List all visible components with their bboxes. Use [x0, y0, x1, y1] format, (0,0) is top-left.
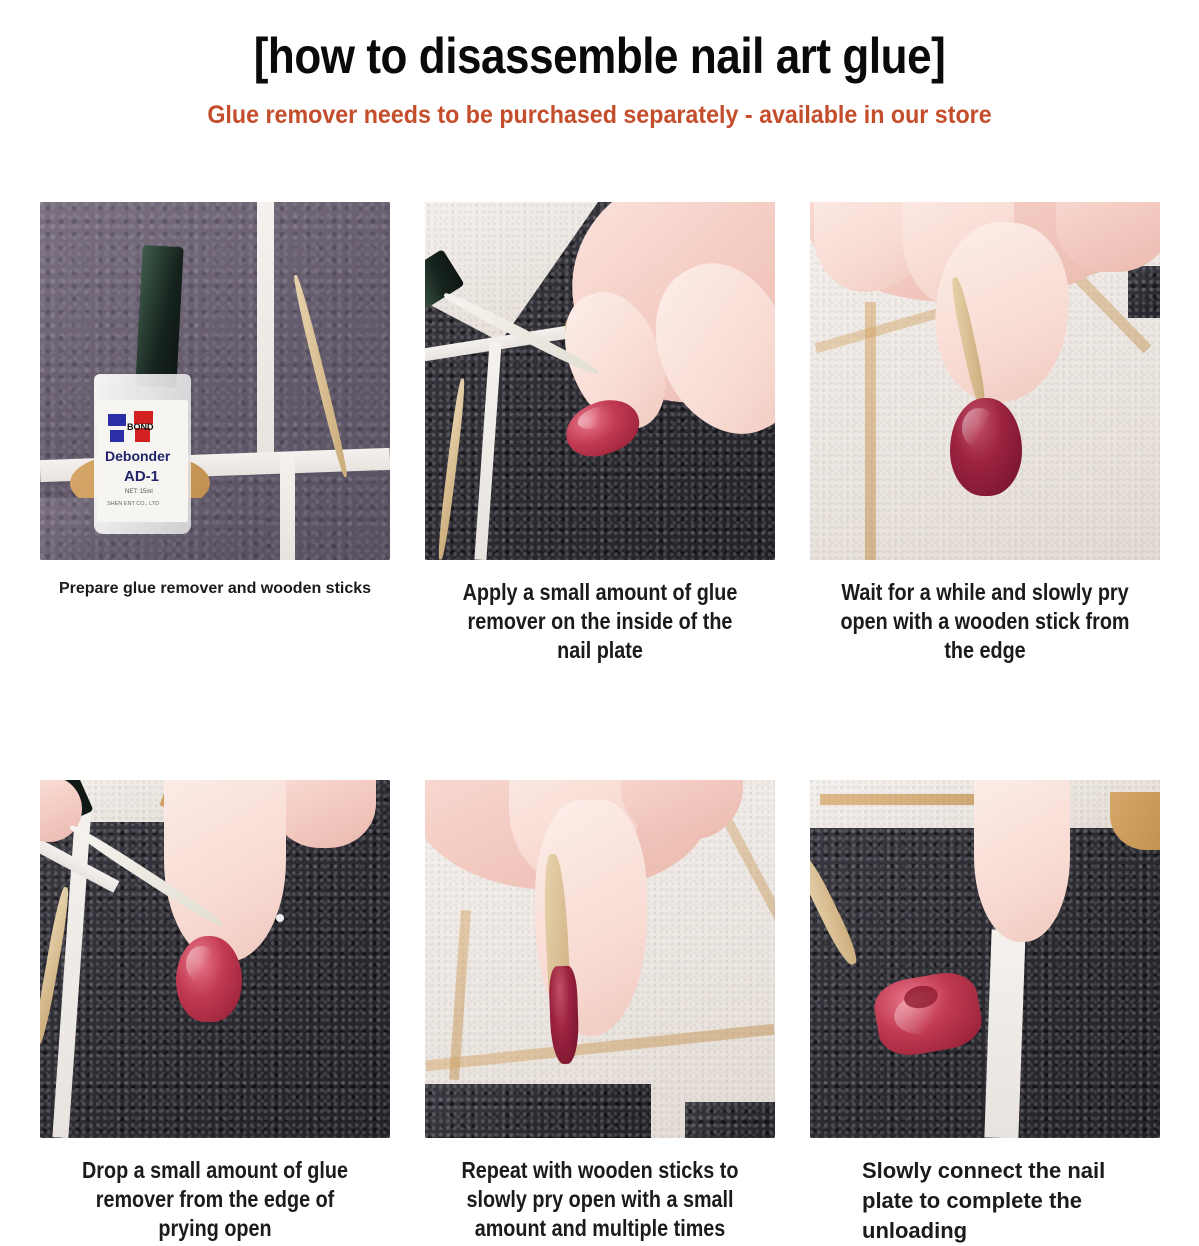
bottle-product-name: Debonder [105, 448, 170, 464]
step-card-4: Drop a small amount of glue remover from… [40, 780, 390, 1246]
step-photo-5 [425, 780, 775, 1138]
background-dark-strip-corner [685, 1102, 775, 1138]
brand-mark-blue [108, 414, 126, 426]
page-subtitle: Glue remover needs to be purchased separ… [42, 100, 1157, 130]
step-caption-3: Wait for a while and slowly pry open wit… [835, 578, 1136, 665]
step-card-2: Apply a small amount of glue remover on … [425, 202, 775, 665]
bottle-model: AD-1 [124, 468, 159, 485]
tile-line-vertical [984, 929, 1025, 1138]
bottle-brand-text: BOND [127, 422, 154, 432]
step-card-6: Slowly connect the nail plate to complet… [810, 780, 1160, 1246]
nail-gloss [962, 408, 996, 448]
infographic-header: [how to disassemble nail art glue] Glue … [0, 0, 1199, 130]
step-photo-2 [425, 202, 775, 560]
bottle-cap [135, 245, 183, 388]
nail-gloss [186, 946, 216, 982]
finger [974, 780, 1070, 942]
background-dark-strip-bottom [425, 1084, 651, 1138]
steps-row-bottom: Drop a small amount of glue remover from… [40, 780, 1161, 1246]
step-photo-3 [810, 202, 1160, 560]
step-card-5: Repeat with wooden sticks to slowly pry … [425, 780, 775, 1246]
bottle-net-volume: NET: 15ml [125, 489, 153, 495]
tile-line-vertical [257, 202, 274, 464]
background-dark-corner [1128, 266, 1160, 318]
page-title: [how to disassemble nail art glue] [72, 28, 1127, 84]
tile-line-vertical-2 [280, 454, 295, 560]
bottle-label: BOND Debonder AD-1 NET: 15ml SHEN ENT CO… [97, 400, 188, 522]
step-card-3: Wait for a while and slowly pry open wit… [810, 202, 1160, 665]
steps-grid: BOND Debonder AD-1 NET: 15ml SHEN ENT CO… [40, 202, 1161, 1246]
step-card-1: BOND Debonder AD-1 NET: 15ml SHEN ENT CO… [40, 202, 390, 665]
brand-mark-blue-2 [110, 430, 124, 442]
step-photo-6 [810, 780, 1160, 1138]
step-photo-4 [40, 780, 390, 1138]
step-caption-1: Prepare glue remover and wooden sticks [40, 578, 390, 599]
step-photo-1: BOND Debonder AD-1 NET: 15ml SHEN ENT CO… [40, 202, 390, 560]
step-caption-2: Apply a small amount of glue remover on … [450, 578, 751, 665]
bottle-company: SHEN ENT CO., LTD [107, 501, 159, 507]
step-caption-6: Slowly connect the nail plate to complet… [810, 1156, 1160, 1246]
steps-row-top: BOND Debonder AD-1 NET: 15ml SHEN ENT CO… [40, 202, 1161, 665]
reflection-dot [276, 914, 284, 922]
cloth-stripe-vertical [865, 302, 876, 560]
